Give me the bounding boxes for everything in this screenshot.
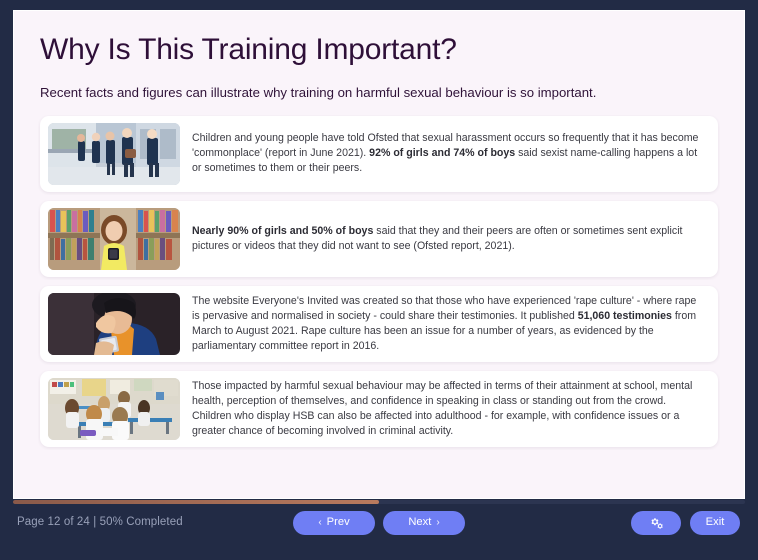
page-status-text: Page 12 of 24 | 50% Completed — [17, 516, 183, 528]
fact-card: The website Everyone's Invited was creat… — [40, 286, 718, 362]
fact-card: Those impacted by harmful sexual behavio… — [40, 371, 718, 447]
page-title: Why Is This Training Important? — [40, 33, 718, 67]
fact-card-text: Children and young people have told Ofst… — [192, 131, 706, 176]
fact-card-text: The website Everyone's Invited was creat… — [192, 294, 706, 354]
chevron-right-icon: › — [436, 518, 439, 528]
fact-card-text: Those impacted by harmful sexual behavio… — [192, 379, 706, 439]
slide-content: Why Is This Training Important? Recent f… — [14, 11, 744, 498]
slide-navigation: ‹ Prev Next › — [293, 511, 465, 535]
chevron-left-icon: ‹ — [318, 518, 321, 528]
settings-button[interactable] — [631, 511, 681, 535]
fact-card-text: Nearly 90% of girls and 50% of boys said… — [192, 224, 706, 254]
slide-panel: Why Is This Training Important? Recent f… — [13, 10, 745, 499]
course-player-frame: Why Is This Training Important? Recent f… — [0, 0, 758, 560]
cogs-icon — [649, 517, 664, 530]
prev-button[interactable]: ‹ Prev — [293, 511, 375, 535]
classroom-pupils-working-photo — [48, 378, 180, 440]
fact-card: Nearly 90% of girls and 50% of boys said… — [40, 201, 718, 277]
fact-card-list: Children and young people have told Ofst… — [40, 116, 718, 447]
next-button[interactable]: Next › — [383, 511, 465, 535]
exit-button-label: Exit — [706, 517, 725, 528]
exit-button[interactable]: Exit — [690, 511, 740, 535]
course-progress-bar — [13, 500, 745, 504]
player-footer: Page 12 of 24 | 50% Completed ‹ Prev Nex… — [0, 499, 758, 560]
distressed-person-with-phone-photo — [48, 293, 180, 355]
students-walking-school-corridor-photo — [48, 123, 180, 185]
fact-card: Children and young people have told Ofst… — [40, 116, 718, 192]
player-actions: Exit — [631, 511, 740, 535]
prev-button-label: Prev — [327, 517, 350, 528]
slide-subtitle: Recent facts and figures can illustrate … — [40, 84, 718, 101]
girl-with-phone-in-library-photo — [48, 208, 180, 270]
next-button-label: Next — [408, 517, 431, 528]
course-progress-fill — [13, 500, 379, 504]
